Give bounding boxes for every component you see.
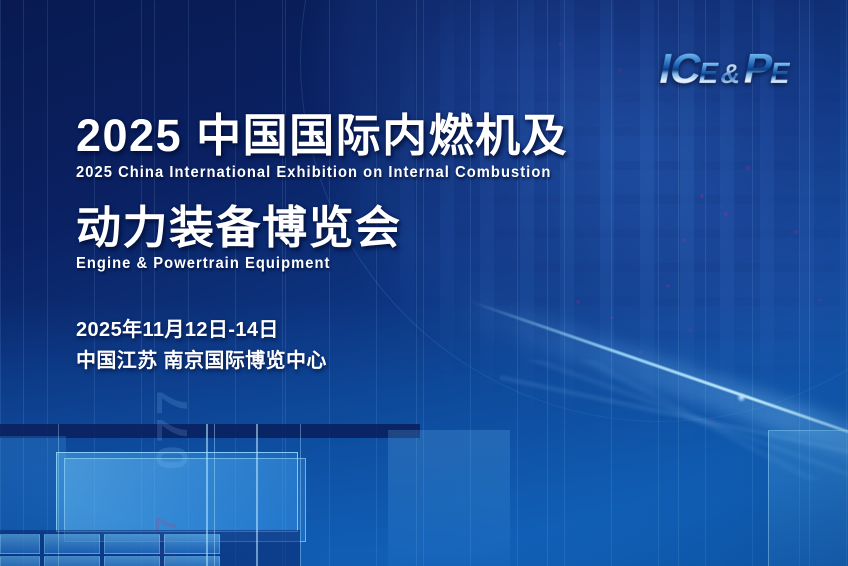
ice-and-pe-logo: I C E & P E [656,48,794,90]
poster-content: 2025 中国国际内燃机及 2025 China International E… [76,112,716,377]
decor-panel-right [768,430,848,566]
light-spark [737,393,746,402]
decor-vbar [256,424,258,566]
event-date: 2025年11月12日-14日 [76,315,716,346]
logo-ampersand: & [718,59,744,90]
decor-brick [44,556,100,566]
decor-vbar [214,424,215,566]
decor-brick [104,534,160,554]
decor-vbar [206,424,208,566]
event-info: 2025年11月12日-14日 中国江苏 南京国际博览中心 [76,315,716,377]
decor-vbar [58,424,59,566]
decor-brick [0,534,40,554]
title-english-line-1: 2025 China International Exhibition on I… [76,164,684,182]
decor-brick [164,556,220,566]
decor-ghost-number: 077 [148,388,198,470]
decor-brick [44,534,100,554]
title-english-line-2: Engine & Powertrain Equipment [76,255,684,273]
title-chinese-line-1: 2025 中国国际内燃机及 [76,112,716,161]
decor-vbar [300,424,301,566]
event-venue: 中国江苏 南京国际博览中心 [76,346,716,377]
decor-brick [0,556,40,566]
decor-panel-center [388,430,510,566]
title-chinese-line-2: 动力装备博览会 [76,204,716,253]
decor-brick [164,534,220,554]
exhibition-banner-poster: 077 077 I C E & P E 2025 中国国际内燃机及 2025 C… [0,0,848,566]
decor-brick [104,556,160,566]
